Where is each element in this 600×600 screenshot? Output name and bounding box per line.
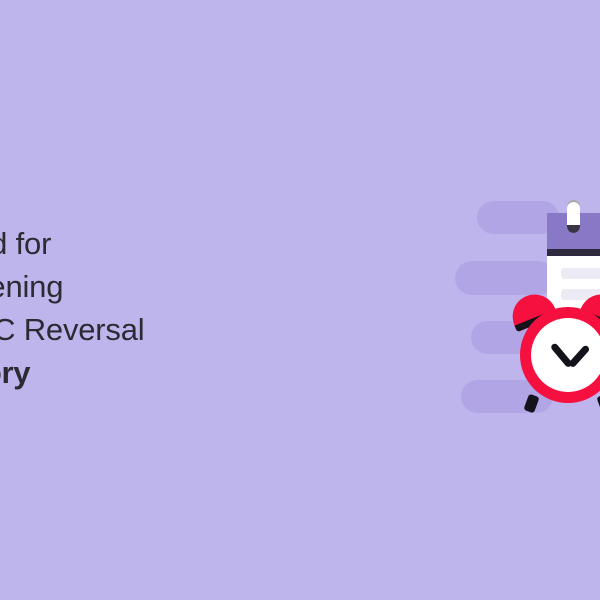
calendar-ring-1 (567, 200, 580, 233)
headline-line-2: g Opening (0, 265, 342, 308)
clock-face (531, 318, 600, 392)
clock-minute-hand (550, 342, 573, 368)
calendar-text-row-1 (561, 268, 600, 279)
headline-line-4: dvisory (0, 351, 342, 394)
alarm-clock-icon (513, 293, 600, 411)
calendar-alarm-clock-illustration (455, 175, 600, 420)
clock-leg-left (523, 394, 539, 414)
speed-bar-2 (455, 261, 555, 295)
clock-leg-right (596, 394, 600, 414)
headline-line-1: ended for (0, 222, 342, 265)
headline-line-3: for ITC Reversal (0, 308, 342, 351)
clock-outer-ring (520, 307, 600, 403)
calendar-divider-rule (547, 249, 600, 256)
banner-image: ended for g Opening for ITC Reversal dvi… (0, 0, 600, 600)
headline-text-block: ended for g Opening for ITC Reversal dvi… (0, 222, 342, 394)
